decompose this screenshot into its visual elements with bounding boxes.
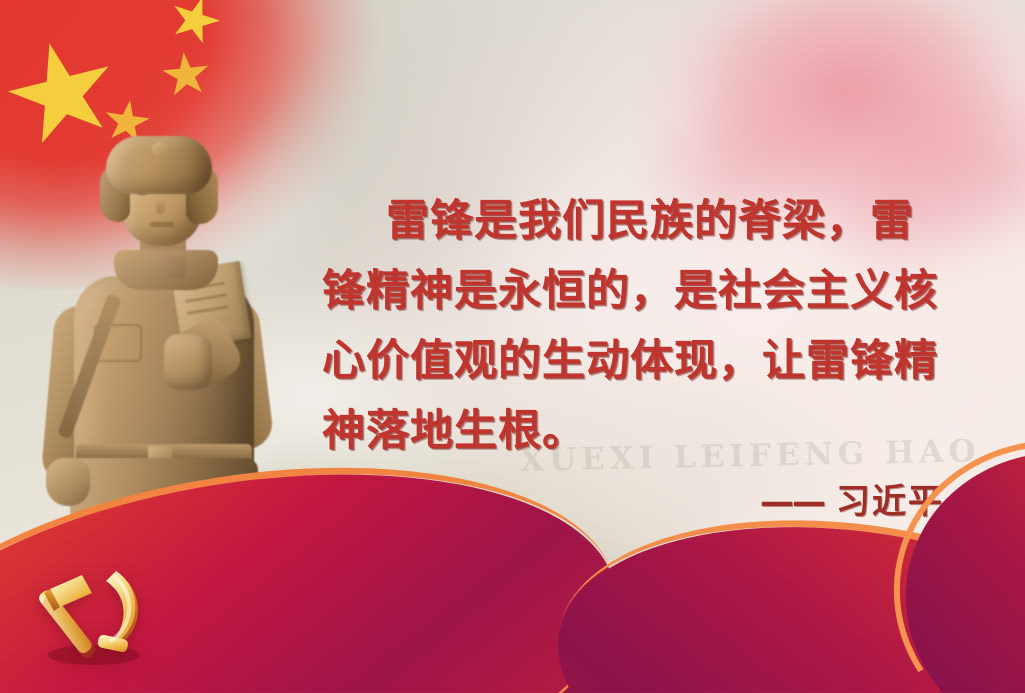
quote-text: 雷锋是我们民族的脊梁，雷锋精神是永恒的，是社会主义核心价值观的生动体现，让雷锋精… bbox=[322, 186, 944, 466]
statue-nose bbox=[156, 198, 165, 214]
statue-hat-badge bbox=[152, 142, 168, 156]
statue-right-hand bbox=[164, 334, 212, 390]
cpc-hammer-sickle-emblem bbox=[24, 559, 158, 671]
statue-collar-tab bbox=[160, 256, 186, 278]
statue-mouth bbox=[150, 222, 174, 227]
lei-feng-spirit-poster: XUEXI LEIFENG HAO BANGYANG 雷锋是我们民族的脊梁，雷锋… bbox=[0, 0, 1025, 693]
